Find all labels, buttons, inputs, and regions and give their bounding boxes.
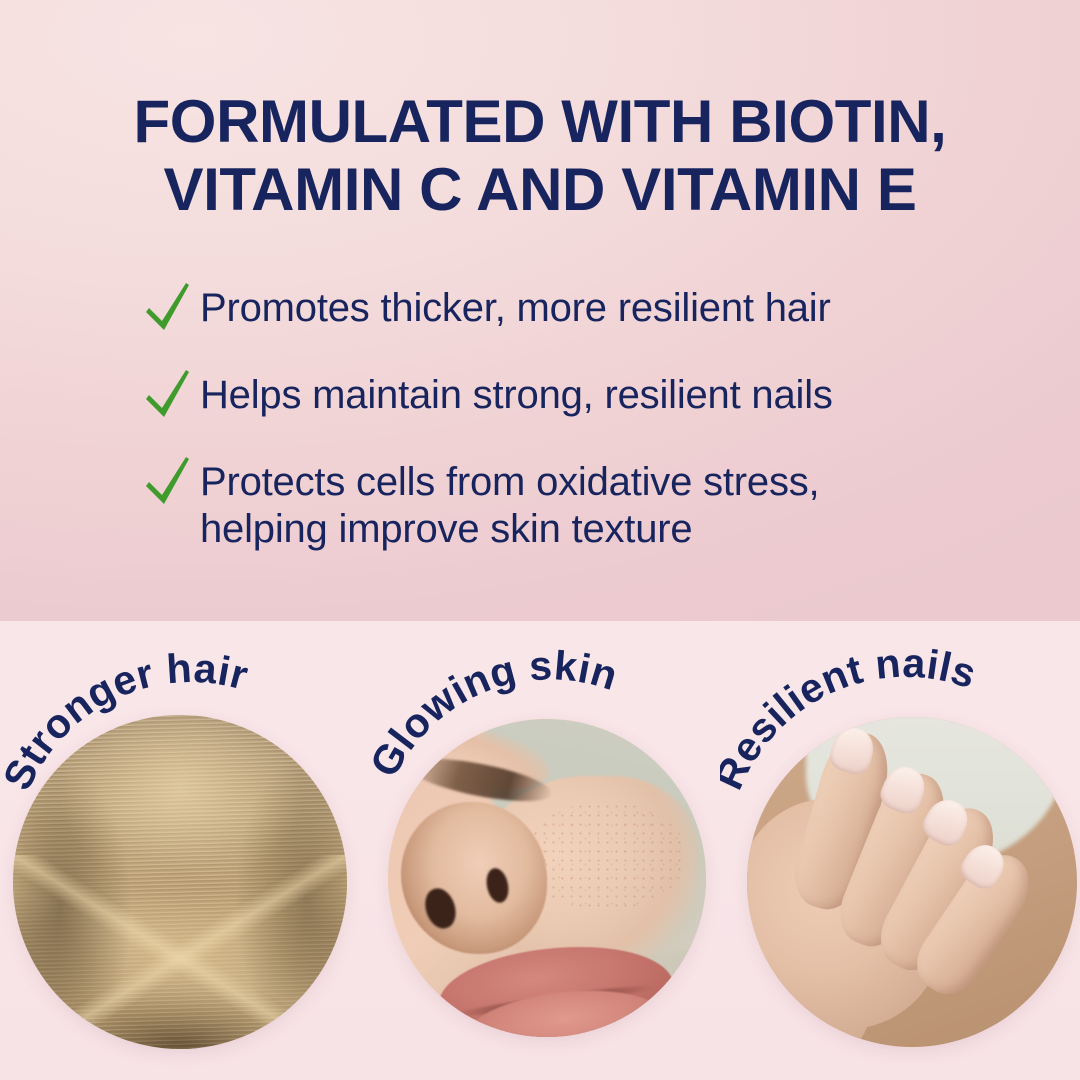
benefit-text: Promotes thicker, more resilient hair — [200, 283, 831, 332]
benefit-text: Helps maintain strong, resilient nails — [200, 370, 833, 419]
benefit-item: Protects cells from oxidative stress, he… — [142, 457, 1002, 553]
hand-nails-photo — [747, 717, 1077, 1047]
check-icon — [142, 281, 194, 337]
benefit-text: Protects cells from oxidative stress, he… — [200, 457, 819, 553]
check-icon — [142, 368, 194, 424]
benefit-item: Helps maintain strong, resilient nails — [142, 370, 1002, 424]
features-panel: Stronger hair — [0, 621, 1080, 1080]
benefits-list: Promotes thicker, more resilient hair He… — [142, 283, 1002, 586]
page-title: FORMULATED WITH BIOTIN, VITAMIN C AND VI… — [0, 88, 1080, 224]
feature-stronger-hair: Stronger hair — [0, 621, 360, 1080]
feature-resilient-nails: Resilient nails — [720, 621, 1080, 1080]
headline-panel: FORMULATED WITH BIOTIN, VITAMIN C AND VI… — [0, 0, 1080, 621]
product-benefits-infographic: FORMULATED WITH BIOTIN, VITAMIN C AND VI… — [0, 0, 1080, 1080]
benefit-item: Promotes thicker, more resilient hair — [142, 283, 1002, 337]
face-photo — [388, 719, 706, 1037]
feature-glowing-skin: Glowing skin — [360, 621, 720, 1080]
hair-photo — [13, 715, 347, 1049]
check-icon — [142, 455, 194, 511]
